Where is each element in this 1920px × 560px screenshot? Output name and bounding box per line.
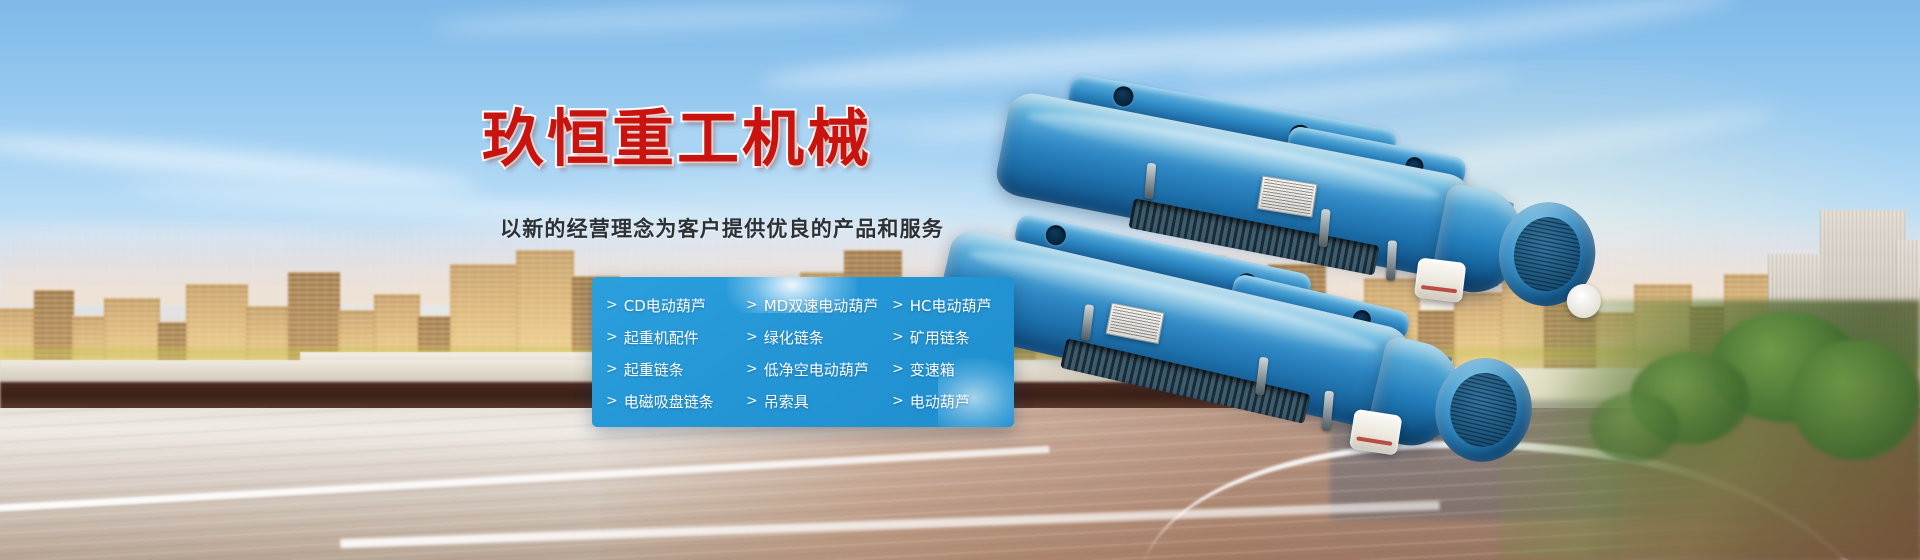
product-link-label: 吊索具 [764, 391, 809, 412]
product-link[interactable]: >矿用链条 [892, 327, 1014, 348]
promo-banner: 玖恒重工机械 以新的经营理念为客户提供优良的产品和服务 >CD电动葫芦>MD双速… [0, 0, 1920, 560]
product-link-label: 电动葫芦 [910, 391, 970, 412]
product-link-label: HC电动葫芦 [910, 295, 992, 316]
electric-hoist-group [1020, 50, 1920, 470]
product-link[interactable]: >电磁吸盘链条 [606, 391, 746, 412]
product-link[interactable]: >变速箱 [892, 359, 1014, 380]
chevron-right-icon: > [606, 330, 618, 344]
hoist-junction-box [1349, 409, 1403, 456]
chevron-right-icon: > [606, 362, 618, 376]
product-link[interactable]: >低净空电动葫芦 [746, 359, 892, 380]
chevron-right-icon: > [606, 394, 618, 408]
chevron-right-icon: > [746, 362, 758, 376]
product-link[interactable]: >MD双速电动葫芦 [746, 295, 892, 316]
chevron-right-icon: > [606, 298, 618, 312]
product-links-grid: >CD电动葫芦>MD双速电动葫芦>HC电动葫芦>起重机配件>绿化链条>矿用链条>… [592, 277, 1014, 427]
product-link[interactable]: >电动葫芦 [892, 391, 1014, 412]
page-subtitle: 以新的经营理念为客户提供优良的产品和服务 [500, 213, 944, 243]
chevron-right-icon: > [892, 394, 904, 408]
product-link-label: 电磁吸盘链条 [624, 391, 714, 412]
product-link-label: 绿化链条 [764, 327, 824, 348]
chevron-right-icon: > [892, 330, 904, 344]
chevron-right-icon: > [892, 298, 904, 312]
product-link[interactable]: >起重机配件 [606, 327, 746, 348]
product-link[interactable]: >HC电动葫芦 [892, 295, 1014, 316]
chevron-right-icon: > [892, 362, 904, 376]
product-link[interactable]: >绿化链条 [746, 327, 892, 348]
product-link[interactable]: >CD电动葫芦 [606, 295, 746, 316]
chevron-right-icon: > [746, 394, 758, 408]
page-title: 玖恒重工机械 [482, 108, 872, 170]
product-link-label: MD双速电动葫芦 [764, 295, 879, 316]
product-link-label: 起重机配件 [624, 327, 699, 348]
chevron-right-icon: > [746, 298, 758, 312]
product-link[interactable]: >起重链条 [606, 359, 746, 380]
product-link-label: 矿用链条 [910, 327, 970, 348]
product-links-panel: >CD电动葫芦>MD双速电动葫芦>HC电动葫芦>起重机配件>绿化链条>矿用链条>… [592, 277, 1014, 427]
product-link-label: 低净空电动葫芦 [764, 359, 869, 380]
chevron-right-icon: > [746, 330, 758, 344]
product-link-label: 变速箱 [910, 359, 955, 380]
product-link-label: CD电动葫芦 [624, 295, 706, 316]
product-link-label: 起重链条 [624, 359, 684, 380]
product-link[interactable]: >吊索具 [746, 391, 892, 412]
